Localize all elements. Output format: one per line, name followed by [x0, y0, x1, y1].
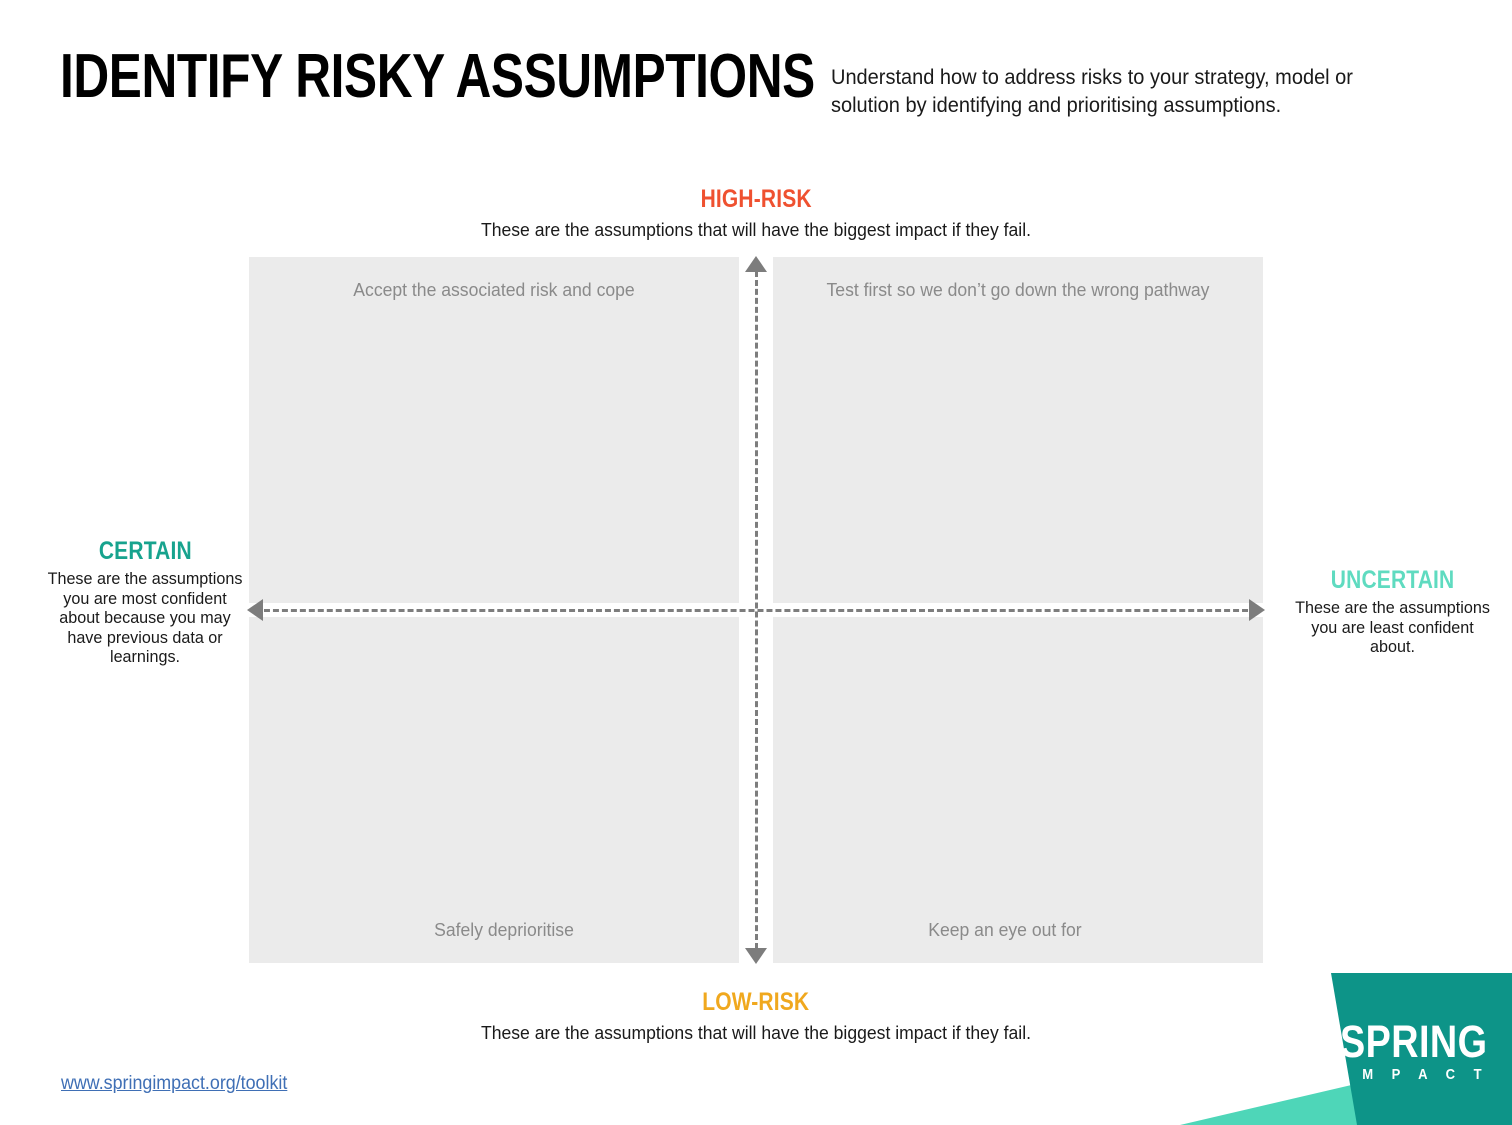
certain-description: These are the assumptions you are most c…	[43, 569, 246, 667]
quadrant-label: Test first so we don’t go down the wrong…	[785, 279, 1251, 301]
quadrant-uncertain-high-risk[interactable]: Test first so we don’t go down the wrong…	[773, 257, 1263, 603]
quadrant-certain-high-risk[interactable]: Accept the associated risk and cope	[249, 257, 739, 603]
horizontal-axis-dashed-line	[255, 609, 1257, 612]
axis-label-uncertain: UNCERTAIN These are the assumptions you …	[1285, 566, 1500, 657]
quadrant-label: Keep an eye out for	[785, 919, 1251, 941]
certain-title: CERTAIN	[99, 537, 192, 565]
quadrant-uncertain-low-risk[interactable]: Keep an eye out for	[773, 617, 1263, 963]
uncertain-title: UNCERTAIN	[1331, 566, 1455, 594]
toolkit-link[interactable]: www.springimpact.org/toolkit	[61, 1073, 287, 1095]
page-subtitle: Understand how to address risks to your …	[831, 63, 1426, 119]
arrow-right-icon	[1249, 599, 1265, 621]
quadrant-label: Accept the associated risk and cope	[261, 279, 727, 301]
logo-wordmark: SPRING I M P A C T	[1340, 1019, 1512, 1083]
page-title: IDENTIFY RISKY ASSUMPTIONS	[60, 46, 815, 108]
quadrant-label: Safely deprioritise	[261, 919, 727, 941]
low-risk-title: LOW-RISK	[702, 989, 809, 1016]
arrow-up-icon	[745, 256, 767, 272]
axis-label-high-risk: HIGH-RISK These are the assumptions that…	[0, 186, 1512, 241]
risk-assumption-matrix: Accept the associated risk and cope Test…	[249, 257, 1263, 963]
arrow-left-icon	[247, 599, 263, 621]
high-risk-description: These are the assumptions that will have…	[38, 219, 1474, 241]
axis-label-certain: CERTAIN These are the assumptions you ar…	[38, 537, 252, 667]
arrow-down-icon	[745, 948, 767, 964]
spring-impact-logo: SPRING I M P A C T	[1180, 973, 1512, 1125]
logo-primary-text: SPRING	[1340, 1019, 1487, 1065]
uncertain-description: These are the assumptions you are least …	[1290, 598, 1494, 657]
high-risk-title: HIGH-RISK	[700, 186, 811, 213]
logo-secondary-text: I M P A C T	[1340, 1067, 1498, 1083]
quadrant-certain-low-risk[interactable]: Safely deprioritise	[249, 617, 739, 963]
worksheet-canvas: IDENTIFY RISKY ASSUMPTIONS Understand ho…	[0, 0, 1512, 1125]
